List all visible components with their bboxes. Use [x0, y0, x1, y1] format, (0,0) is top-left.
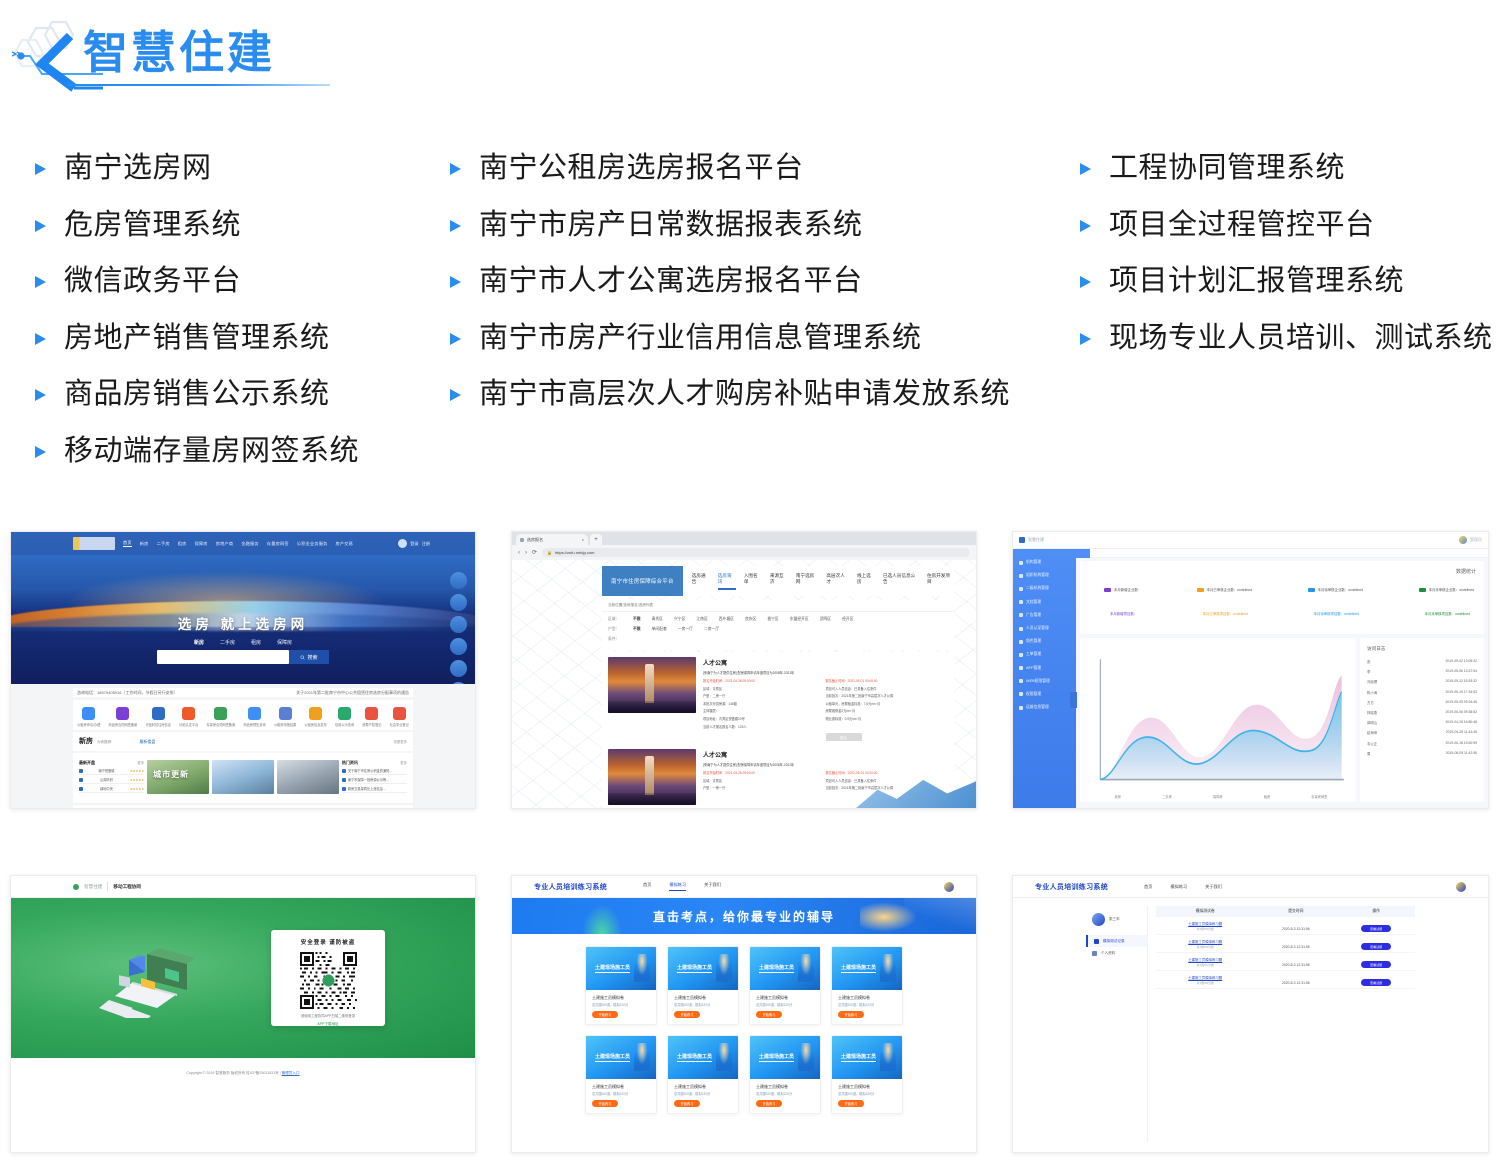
menu-item[interactable]: 来源互济	[770, 573, 788, 590]
sidebar-item-profile[interactable]: 个人资料	[1086, 947, 1147, 959]
legend-label: 本月已审核企业数：undefined	[1207, 587, 1252, 592]
listing-info: 人才公寓 [来南宁为人才提供住房] 配房保障申请年度项目为2008年-2021年…	[703, 657, 948, 741]
log-time: 2019-06-09 11:42:56	[1446, 751, 1477, 756]
avatar[interactable]	[944, 882, 954, 892]
start-practice-button[interactable]: 开始练习	[838, 1100, 864, 1107]
filter-option[interactable]: 兴宁区	[674, 617, 685, 622]
course-meta: 总共题200道，模拟120分	[586, 1002, 656, 1011]
sidebar-item[interactable]: 角色管理	[1013, 635, 1076, 648]
triangle-right-icon	[445, 385, 465, 405]
table-row[interactable]: 土建施工员模拟练习题共7题/70分题 2020-8-3 12:31:56 查看试…	[1156, 953, 1415, 971]
leaf-decoration	[582, 904, 622, 934]
listing-field: 报名开始时间：2021-04-26 09:00:00	[703, 678, 826, 683]
start-practice-button[interactable]: 开始练习	[592, 1100, 618, 1107]
log-time: 2019-09-02 13:05:32	[1446, 659, 1477, 664]
site-header: 南宁市住房保障综合平台 选房通告 选房资讯 入围名单 来源互济 南宁选房网 高层…	[602, 566, 954, 596]
account-area[interactable]: 登录 注册	[398, 539, 430, 548]
notice-right[interactable]: 关于2021年第二批南宁市中心公共租赁住房选房分配事项的通告	[296, 690, 409, 696]
filter-option[interactable]: 二房一厅	[704, 627, 719, 632]
menu-item[interactable]: 首页	[1144, 884, 1152, 890]
quick-entry[interactable]: 房屋产权登记	[362, 707, 381, 727]
sidebar-item[interactable]: WEB权限管理	[1013, 675, 1076, 688]
list-item[interactable]: 绿地中央★★★★★	[79, 786, 144, 793]
filter-option[interactable]: 东盟经开区	[790, 617, 809, 622]
menu-item[interactable]: 高层次人才	[826, 573, 849, 590]
item-icon	[1019, 627, 1023, 631]
listing-field: 房屋维修金2元/m²·月	[826, 708, 949, 713]
section-sub: 为你推荐	[97, 740, 111, 745]
table-row[interactable]: 土建施工员模拟练习题共7题/70分题 2020-8-3 12:31:56 查看试…	[1156, 917, 1415, 935]
section-title: 新房	[79, 736, 93, 746]
magnifier-icon	[300, 655, 305, 660]
search-input[interactable]	[157, 650, 289, 664]
listing-field: 区域：青秀区	[703, 778, 826, 783]
search-tab[interactable]: 保障房	[277, 639, 292, 646]
records-sidebar: 张三丰 模拟测试记录 个人资料	[1086, 906, 1148, 1142]
course-card[interactable]: 土建现场施工员土建施工员模拟卷总共题200道，模拟120分开始练习	[831, 1035, 903, 1114]
course-card[interactable]: 土建现场施工员土建施工员模拟卷总共题200道，模拟120分开始练习	[585, 946, 657, 1025]
records-table: 模拟测试卷 提交时间 操作 土建施工员模拟练习题共7题/70分题 2020-8-…	[1156, 906, 1415, 1142]
news-item[interactable]: 南宁市保障一批房源公示等...	[342, 777, 407, 784]
menu-item[interactable]: 南宁选房网	[796, 573, 819, 590]
stats-card: 数据统计 本月新增企业数： 本月已审核企业数：undefined 本月待审核企业…	[1080, 561, 1484, 634]
course-name: 土建施工员模拟卷	[750, 990, 820, 1002]
log-time: 2019-05-19 17:34:52	[1446, 690, 1477, 695]
entry-label: 公租房信息发布	[304, 722, 326, 727]
filter-option[interactable]: 良庆区	[745, 617, 756, 622]
submit-time: 2020-8-3 12:31:56	[1282, 963, 1310, 967]
filter-label: 户型：	[608, 627, 622, 632]
entry-icon	[116, 707, 129, 720]
system-link-list: 南宁选房网 危房管理系统 微信政务平台 房地产销售管理系统 商品房销售公示系统 …	[0, 140, 1500, 490]
page-body: 咨询电话：18579405916（工作时间，节假日另行安排） 关于2021年第二…	[11, 684, 475, 808]
log-row: 周2019-06-09 11:42:56	[1367, 751, 1477, 756]
filter-option[interactable]: 一房一厅	[678, 627, 693, 632]
filter-row-region: 区域： 不限 青秀区 兴宁区 江南区 西乡塘区 良庆区 邕宁区 东盟经开区 武鸣…	[608, 617, 948, 622]
qr-code-image[interactable]	[300, 952, 357, 1009]
sub-brand-label: 移动工程协同	[113, 884, 141, 890]
stats-card-title: 数据统计	[1456, 568, 1476, 575]
nav-item[interactable]: 租房	[178, 541, 187, 547]
listing-thumbnail	[608, 749, 696, 805]
screenshot-gongcheng-xietong-dashboard[interactable]: 智慧住建 管理员 机构管理 组织机构管理 二级机构管理 文档管理 广告管理 人员…	[1012, 531, 1489, 809]
quick-entry[interactable]: 商品房合同网签备案	[109, 707, 138, 727]
quick-entry[interactable]: 可营利性住房信息	[145, 707, 171, 727]
close-icon[interactable]: ×	[582, 537, 584, 542]
app-download-link[interactable]: APP下载地址	[271, 1022, 385, 1027]
link-item-yidongduan-wangqian[interactable]: 移动端存量房网签系统	[30, 423, 450, 480]
logo-icon	[1019, 537, 1025, 543]
browser-tab-title: 选房报名	[527, 537, 543, 543]
listing-item[interactable]: 人才公寓 [来南宁为人才提供住房] 配房保障申请年度项目为2008年-2021年…	[608, 657, 948, 741]
course-meta: 总共题200道，模拟120分	[668, 1091, 738, 1100]
paper-name-link[interactable]: 土建施工员模拟练习题	[1156, 939, 1254, 944]
quick-entry[interactable]: 商品房预售查询	[243, 707, 265, 727]
entry-icon	[214, 707, 227, 720]
menu-item[interactable]: 住房开发项目	[927, 573, 954, 590]
sidebar-label: 组织机构管理	[1026, 573, 1049, 578]
hot-news-list: 热门资讯 更多 关于南宁市住房公积金的通知... 南宁市保障一批房源公示等...…	[342, 760, 407, 795]
sidebar-item[interactable]: 工单管理	[1013, 648, 1076, 661]
entry-label: 存量房合同网签备案	[207, 722, 236, 727]
quick-entry[interactable]: 公租房申报结果	[274, 707, 296, 727]
link-item-weifang-guanli[interactable]: 危房管理系统	[30, 197, 450, 254]
sidebar-item[interactable]: 机构管理	[1013, 556, 1076, 569]
table-row[interactable]: 土建施工员模拟练习题共7题/70分题 2020-8-3 12:31:56 查看试…	[1156, 935, 1415, 953]
link-item-gongzufang-baoming[interactable]: 南宁公租房选房报名平台	[445, 140, 1065, 197]
person-icon	[880, 1043, 896, 1071]
legend-entry: 本月新增企业数：	[1104, 587, 1141, 592]
quick-entry[interactable]: 公租房信息发布	[304, 707, 326, 727]
quick-entry[interactable]: 存量房合同网签备案	[207, 707, 236, 727]
quick-entry[interactable]: 补贴认定平台	[179, 707, 198, 727]
login-topbar: 智慧住建 移动工程协同	[11, 876, 475, 898]
course-name: 土建施工员模拟卷	[832, 990, 902, 1002]
legend-entry: 本月待审核企业数：undefined	[1308, 587, 1363, 592]
nav-item[interactable]: 房产交易	[335, 541, 353, 547]
promo-image-2[interactable]	[212, 760, 274, 794]
bullet-icon	[79, 787, 83, 791]
page-header: 智慧住建	[0, 0, 1500, 110]
sidebar-item[interactable]: 运维信息管理	[1013, 701, 1076, 714]
menu-item-active[interactable]: 选房资讯	[718, 573, 736, 590]
menu-item[interactable]: 关于我们	[704, 882, 721, 891]
training-menu: 首页 模拟练习 关于我们	[643, 882, 721, 891]
column-header: 提交时间	[1254, 909, 1337, 914]
listing-thumbnail	[608, 657, 696, 713]
new-tab-button[interactable]: +	[590, 534, 602, 545]
banner-text: 直击考点，给你最专业的辅导	[653, 908, 835, 925]
address-bar[interactable]: 🔒 https://zufu.nnfcjy.com	[542, 548, 970, 557]
link-label: 房地产销售管理系统	[64, 321, 330, 355]
course-card[interactable]: 土建现场施工员土建施工员模拟卷总共题200道，模拟120分开始练习	[831, 946, 903, 1025]
start-practice-button[interactable]: 开始练习	[838, 1011, 864, 1018]
nav-item[interactable]: 房地产商	[216, 541, 234, 547]
paper-name-link[interactable]: 土建施工员模拟练习题	[1156, 957, 1254, 962]
course-cover-title: 土建现场施工员	[595, 964, 630, 973]
link-label: 南宁市房产行业信用信息管理系统	[479, 321, 922, 355]
log-time: 2019-04-28 16:80:48	[1446, 720, 1477, 725]
admin-entry-link[interactable]: 管理员入口	[282, 1071, 300, 1075]
reload-icon[interactable]: ⟳	[532, 549, 537, 556]
sidebar-item[interactable]: APP管理	[1013, 662, 1076, 675]
avatar	[1092, 913, 1105, 926]
triangle-right-icon	[1075, 216, 1095, 236]
table-row[interactable]: 土建施工员模拟练习题共7题/70分题 2020-8-3 12:31:56 查看试…	[1156, 971, 1415, 989]
title-underline	[68, 84, 330, 86]
wave-decoration	[904, 898, 976, 934]
entry-label: 公租房申请/办理	[77, 722, 100, 727]
log-card: 访问日志 张2019-09-02 13:05:32 李2019-05-06 13…	[1360, 638, 1484, 802]
filter-option[interactable]: 不限	[633, 627, 641, 632]
link-item-fangdichan-xiaoshou[interactable]: 房地产销售管理系统	[30, 310, 450, 367]
search-tab[interactable]: 租房	[251, 639, 261, 646]
side-button[interactable]	[450, 594, 467, 611]
course-card[interactable]: 土建现场施工员土建施工员模拟卷总共题200道，模拟120分开始练习	[749, 1035, 821, 1114]
link-item-goufang-butie[interactable]: 南宁市高层次人才购房补贴申请发放系统	[445, 366, 1065, 423]
site-brand: 南宁市住房保障综合平台	[602, 566, 683, 596]
paper-name-link[interactable]: 土建施工员模拟练习题	[1156, 975, 1254, 980]
rating: ★★★★★	[130, 778, 144, 782]
column-header: 模拟测试卷	[1156, 909, 1254, 914]
login-card: 安全登录 谨防被盗	[271, 930, 385, 1026]
nav-item[interactable]: 公积金业务服务	[297, 541, 328, 547]
search-button-label: 搜索	[307, 654, 317, 661]
sidebar-item[interactable]: 组织机构管理	[1013, 569, 1076, 582]
site-nav: 首页 新房 二手房 租房 保障房 房地产商 金融服务 存量房网签 公积金业务服务…	[11, 532, 475, 555]
person-icon	[634, 1043, 650, 1071]
filter-option[interactable]: 西乡塘区	[719, 617, 734, 622]
back-icon[interactable]: ‹	[518, 550, 520, 556]
triangle-right-icon	[30, 385, 50, 405]
filter-option[interactable]: 邕宁区	[767, 617, 778, 622]
sidebar-label: 个人资料	[1101, 951, 1115, 956]
side-button[interactable]	[450, 616, 467, 633]
training-banner: 直击考点，给你最专业的辅导	[512, 898, 976, 934]
course-cover-title: 土建现场施工员	[759, 1053, 794, 1062]
menu-item[interactable]: 选房通告	[692, 573, 710, 590]
log-time: 2019-05-12 15:25:32	[1446, 679, 1477, 684]
view-paper-button[interactable]: 查看试题	[1361, 943, 1391, 950]
news-item[interactable]: 新房交易量同比上涨信息...	[342, 786, 407, 793]
quick-entry[interactable]: 公租房申请/办理	[77, 707, 100, 727]
log-user: 林晓燕	[1367, 710, 1377, 715]
listing-field: 户型：一房一厅	[703, 785, 826, 790]
course-cover: 土建现场施工员	[668, 947, 738, 990]
filter-option[interactable]: 江南区	[696, 617, 707, 622]
item-icon	[1019, 640, 1023, 644]
menu-item-active[interactable]: 模拟练习	[669, 882, 686, 891]
legend-entry: 本月已审核企业数：undefined	[1197, 587, 1252, 592]
course-card[interactable]: 土建现场施工员土建施工员模拟卷总共题200道，模拟120分开始练习	[749, 946, 821, 1025]
entry-label: 可营利性住房信息	[145, 722, 171, 727]
login-link[interactable]: 登录	[410, 541, 418, 547]
page-title: 智慧住建	[83, 26, 275, 80]
link-column-2: 南宁公租房选房报名平台 南宁市房产日常数据报表系统 南宁市人才公寓选房报名平台 …	[445, 140, 1065, 423]
training-topbar: 专业人员培训练习系统 首页 模拟练习 关于我们	[512, 876, 976, 898]
listing-title: 人才公寓	[703, 750, 948, 759]
screenshot-xuanfangwang[interactable]: 首页 新房 二手房 租房 保障房 房地产商 金融服务 存量房网签 公积金业务服务…	[10, 531, 476, 809]
link-item-peixun-ceshi[interactable]: 现场专业人员培训、测试系统	[1075, 310, 1495, 367]
person-icon	[798, 954, 814, 982]
nav-item[interactable]: 保障房	[195, 541, 208, 547]
register-link[interactable]: 注册	[422, 541, 430, 547]
nav-item[interactable]: 新房	[140, 541, 149, 547]
link-item-gongcheng-xietong[interactable]: 工程协同管理系统	[1075, 140, 1495, 197]
link-label: 南宁公租房选房报名平台	[479, 151, 804, 185]
link-item-weixin-zhengwu[interactable]: 微信政务平台	[30, 253, 450, 310]
course-name: 土建施工员模拟卷	[668, 1079, 738, 1091]
course-card[interactable]: 土建现场施工员土建施工员模拟卷总共题200道，模拟120分开始练习	[667, 946, 739, 1025]
browser-urlbar: ‹ › ⟳ 🔒 https://zufu.nnfcjy.com	[512, 545, 976, 560]
paper-sub: 共7题/70分题	[1156, 927, 1254, 931]
sidebar-item[interactable]: 人员认证管理	[1013, 622, 1076, 635]
legend-label: 本月新增企业数：	[1114, 587, 1141, 592]
triangle-right-icon	[445, 216, 465, 236]
link-item-rencai-gongyu[interactable]: 南宁市人才公寓选房报名平台	[445, 253, 1065, 310]
rating: ★★★★★	[130, 787, 144, 791]
link-label: 商品房销售公示系统	[64, 377, 330, 411]
link-column-3: 工程协同管理系统 项目全过程管控平台 项目计划汇报管理系统 现场专业人员培训、测…	[1075, 140, 1495, 366]
log-row: 张2019-09-02 13:05:32	[1367, 659, 1477, 664]
legend-label: 本月未审核项目数：undefined	[1425, 611, 1470, 616]
entry-icon	[152, 707, 165, 720]
list-icon	[1094, 939, 1099, 944]
bullet-icon	[342, 778, 346, 782]
item-icon	[1019, 600, 1023, 604]
listing-field: 项目可入人员信息：已具备入住条件	[826, 778, 949, 783]
log-user: 赵海坤	[1367, 730, 1377, 735]
side-button[interactable]	[450, 660, 467, 677]
view-paper-button[interactable]: 查看试题	[1361, 979, 1391, 986]
start-practice-button[interactable]: 开始练习	[674, 1011, 700, 1018]
filter-option[interactable]: 经开区	[842, 617, 853, 622]
nav-item[interactable]: 存量房网签	[267, 541, 289, 547]
site-logo-icon	[73, 537, 115, 550]
filter-option[interactable]: 单间配套	[652, 627, 667, 632]
start-practice-button[interactable]: 开始练习	[756, 1011, 782, 1018]
qr-tip: 请使用工程协同APP扫描二维码登录	[271, 1013, 385, 1018]
training-brand: 专业人员培训练习系统	[534, 882, 607, 892]
legend-label: 本月新增项目数：	[1110, 611, 1137, 616]
link-item-nanning-xuanfangwang[interactable]: 南宁选房网	[30, 140, 450, 197]
filter-option[interactable]: 武鸣区	[820, 617, 831, 622]
content-tab[interactable]	[1076, 549, 1090, 558]
paper-name-link[interactable]: 土建施工员模拟练习题	[1156, 921, 1254, 926]
list-more[interactable]: 更多	[137, 760, 144, 765]
view-paper-button[interactable]: 查看试题	[1361, 961, 1391, 968]
sidebar-item[interactable]: 广告管理	[1013, 609, 1076, 622]
avatar	[1459, 536, 1467, 544]
nav-item[interactable]: 首页	[123, 540, 132, 547]
promo-image-3[interactable]	[277, 760, 339, 794]
nav-item[interactable]: 二手房	[157, 541, 170, 547]
x-tick: 存量房网签	[1311, 794, 1327, 799]
entry-icon	[82, 707, 95, 720]
divider	[107, 882, 108, 891]
course-card[interactable]: 土建现场施工员土建施工员模拟卷总共题200道，模拟120分开始练习	[667, 1035, 739, 1114]
area-chart	[1094, 656, 1348, 786]
link-item-xinyong-xinxi[interactable]: 南宁市房产行业信用信息管理系统	[445, 310, 1065, 367]
admin-user[interactable]: 管理员	[1459, 536, 1482, 544]
listing-field: 当前人才报名报名人数：123人	[703, 724, 826, 729]
listing-item[interactable]: 人才公寓 [来南宁为人才提供住房] 配房保障申请年度项目为2008年-2021年…	[608, 749, 948, 805]
sidebar-item[interactable]: 二级机构管理	[1013, 582, 1076, 595]
menu-item[interactable]: 模拟练习	[1170, 884, 1187, 890]
browser-tab[interactable]: 选房报名 ×	[516, 534, 588, 545]
menu-item[interactable]: 线上选房	[857, 573, 875, 590]
course-cover-title: 土建现场施工员	[759, 964, 794, 973]
menu-item[interactable]: 已选人员信息公告	[883, 573, 919, 590]
legend-label: 本月待审核企业数：undefined	[1318, 587, 1363, 592]
sidebar-label: 二级机构管理	[1026, 586, 1049, 591]
start-practice-button[interactable]: 开始练习	[592, 1011, 618, 1018]
listing-title: 人才公寓	[703, 658, 948, 667]
side-button[interactable]	[450, 638, 467, 655]
section-more[interactable]: 查看更多	[393, 739, 407, 744]
screenshot-moni-ceshi-jilu[interactable]: 专业人员培训练习系统 首页 模拟练习 关于我们 张三丰 模拟测试记录 个人资料 …	[1012, 875, 1489, 1153]
menu-item[interactable]: 关于我们	[1205, 884, 1222, 890]
search-bar[interactable]: 搜索	[157, 650, 329, 664]
course-meta: 总共题200道，模拟120分	[832, 1002, 902, 1011]
course-cover-title: 土建现场施工员	[677, 964, 712, 973]
section-new-content: 最新开盘 更多 南宁悦荟城★★★★★ 山湖华府★★★★★ 绿地中央★★★★★ 热…	[73, 753, 413, 803]
x-tick: 新房	[1115, 794, 1121, 799]
entry-label: 房屋产权登记	[362, 722, 381, 727]
link-item-quanguocheng-guankong[interactable]: 项目全过程管控平台	[1075, 197, 1495, 254]
listing-field: 报名开始时间：2021-04-26 09:00:00	[703, 770, 826, 775]
news-item[interactable]: 关于南宁市住房公积金的通知...	[342, 768, 407, 775]
search-tab[interactable]: 二手房	[220, 639, 235, 646]
log-time: 2019-06-06 09:38:52	[1446, 710, 1477, 715]
quick-entry[interactable]: 社会事业登记	[390, 707, 409, 727]
screenshot-peixun-lianxi[interactable]: 专业人员培训练习系统 首页 模拟练习 关于我们 直击考点，给你最专业的辅导 土建…	[511, 875, 977, 1153]
copyright-text: Copyright © 2019 智慧服务 版权所有 桂ICP备25011531…	[186, 1071, 281, 1075]
listing-field: 主体楼层：	[703, 708, 826, 713]
link-item-fangchan-ribao[interactable]: 南宁市房产日常数据报表系统	[445, 197, 1065, 254]
filter-panel: 区域： 不限 青秀区 兴宁区 江南区 西乡塘区 良庆区 邕宁区 东盟经开区 武鸣…	[602, 612, 954, 650]
link-item-shangpinfang-gongshi[interactable]: 商品房销售公示系统	[30, 366, 450, 423]
start-practice-button[interactable]: 开始练习	[674, 1100, 700, 1107]
screenshot-rencai-gongyu[interactable]: 选房报名 × + ‹ › ⟳ 🔒 https://zufu.nnfcjy.com…	[511, 531, 977, 809]
listing-field: 区域：青秀区	[703, 686, 826, 691]
entry-icon	[365, 707, 378, 720]
start-practice-button[interactable]: 开始练习	[756, 1100, 782, 1107]
sidebar-item-records[interactable]: 模拟测试记录	[1086, 935, 1147, 947]
entry-label: 补贴认定平台	[179, 722, 198, 727]
list-more[interactable]: 更多	[400, 760, 407, 765]
list-item[interactable]: 山湖华府★★★★★	[79, 777, 144, 784]
sidebar-item[interactable]: 文档管理	[1013, 596, 1076, 609]
filter-option[interactable]: 不限	[633, 617, 641, 622]
avatar[interactable]	[1456, 882, 1466, 892]
log-row: 方方2019-05-09 09:34:46	[1367, 700, 1477, 705]
legend-swatch	[1308, 588, 1315, 592]
log-row: 郭明山2019-04-28 16:80:48	[1367, 720, 1477, 725]
person-icon	[716, 954, 732, 982]
admin-main: 数据统计 本月新增企业数： 本月已审核企业数：undefined 本月待审核企业…	[1076, 549, 1488, 808]
menu-item[interactable]: 首页	[643, 882, 651, 891]
sidebar-label: 模拟测试记录	[1103, 939, 1125, 944]
search-button[interactable]: 搜索	[289, 650, 329, 664]
triangle-right-icon	[1075, 159, 1095, 179]
link-label: 项目全过程管控平台	[1109, 208, 1375, 242]
x-tick: 保障房	[1213, 794, 1223, 799]
search-tab[interactable]: 新房	[194, 639, 204, 646]
promo-banner-image[interactable]	[147, 760, 209, 794]
triangle-right-icon	[30, 442, 50, 462]
forward-icon[interactable]: ›	[525, 550, 527, 556]
records-menu: 首页 模拟练习 关于我们	[1144, 884, 1222, 890]
quick-entry[interactable]: 信用公示查询	[335, 707, 354, 727]
nav-item[interactable]: 金融服务	[241, 541, 259, 547]
legend-label: 本月未审核企业数：undefined	[1429, 587, 1474, 592]
view-paper-button[interactable]: 查看试题	[1361, 925, 1391, 932]
screenshot-yidong-gongcheng-login[interactable]: 智慧住建 移动工程协同	[10, 875, 476, 1153]
admin-logo-label: 智慧住建	[1028, 537, 1044, 543]
course-card[interactable]: 土建现场施工员土建施工员模拟卷总共题200道，模拟120分开始练习	[585, 1035, 657, 1114]
sidebar-label: 机构管理	[1026, 560, 1041, 565]
list-item[interactable]: 南宁悦荟城★★★★★	[79, 768, 144, 775]
link-item-jihua-huibao[interactable]: 项目计划汇报管理系统	[1075, 253, 1495, 310]
side-button[interactable]	[450, 572, 467, 589]
menu-item[interactable]: 入围名单	[744, 573, 762, 590]
apply-button[interactable]: 报名	[826, 733, 862, 741]
section-tab[interactable]: 最新楼盘	[139, 739, 155, 745]
item-icon	[1019, 679, 1023, 683]
filter-option[interactable]: 青秀区	[652, 617, 663, 622]
sidebar-item[interactable]: 权限管理	[1013, 688, 1076, 701]
